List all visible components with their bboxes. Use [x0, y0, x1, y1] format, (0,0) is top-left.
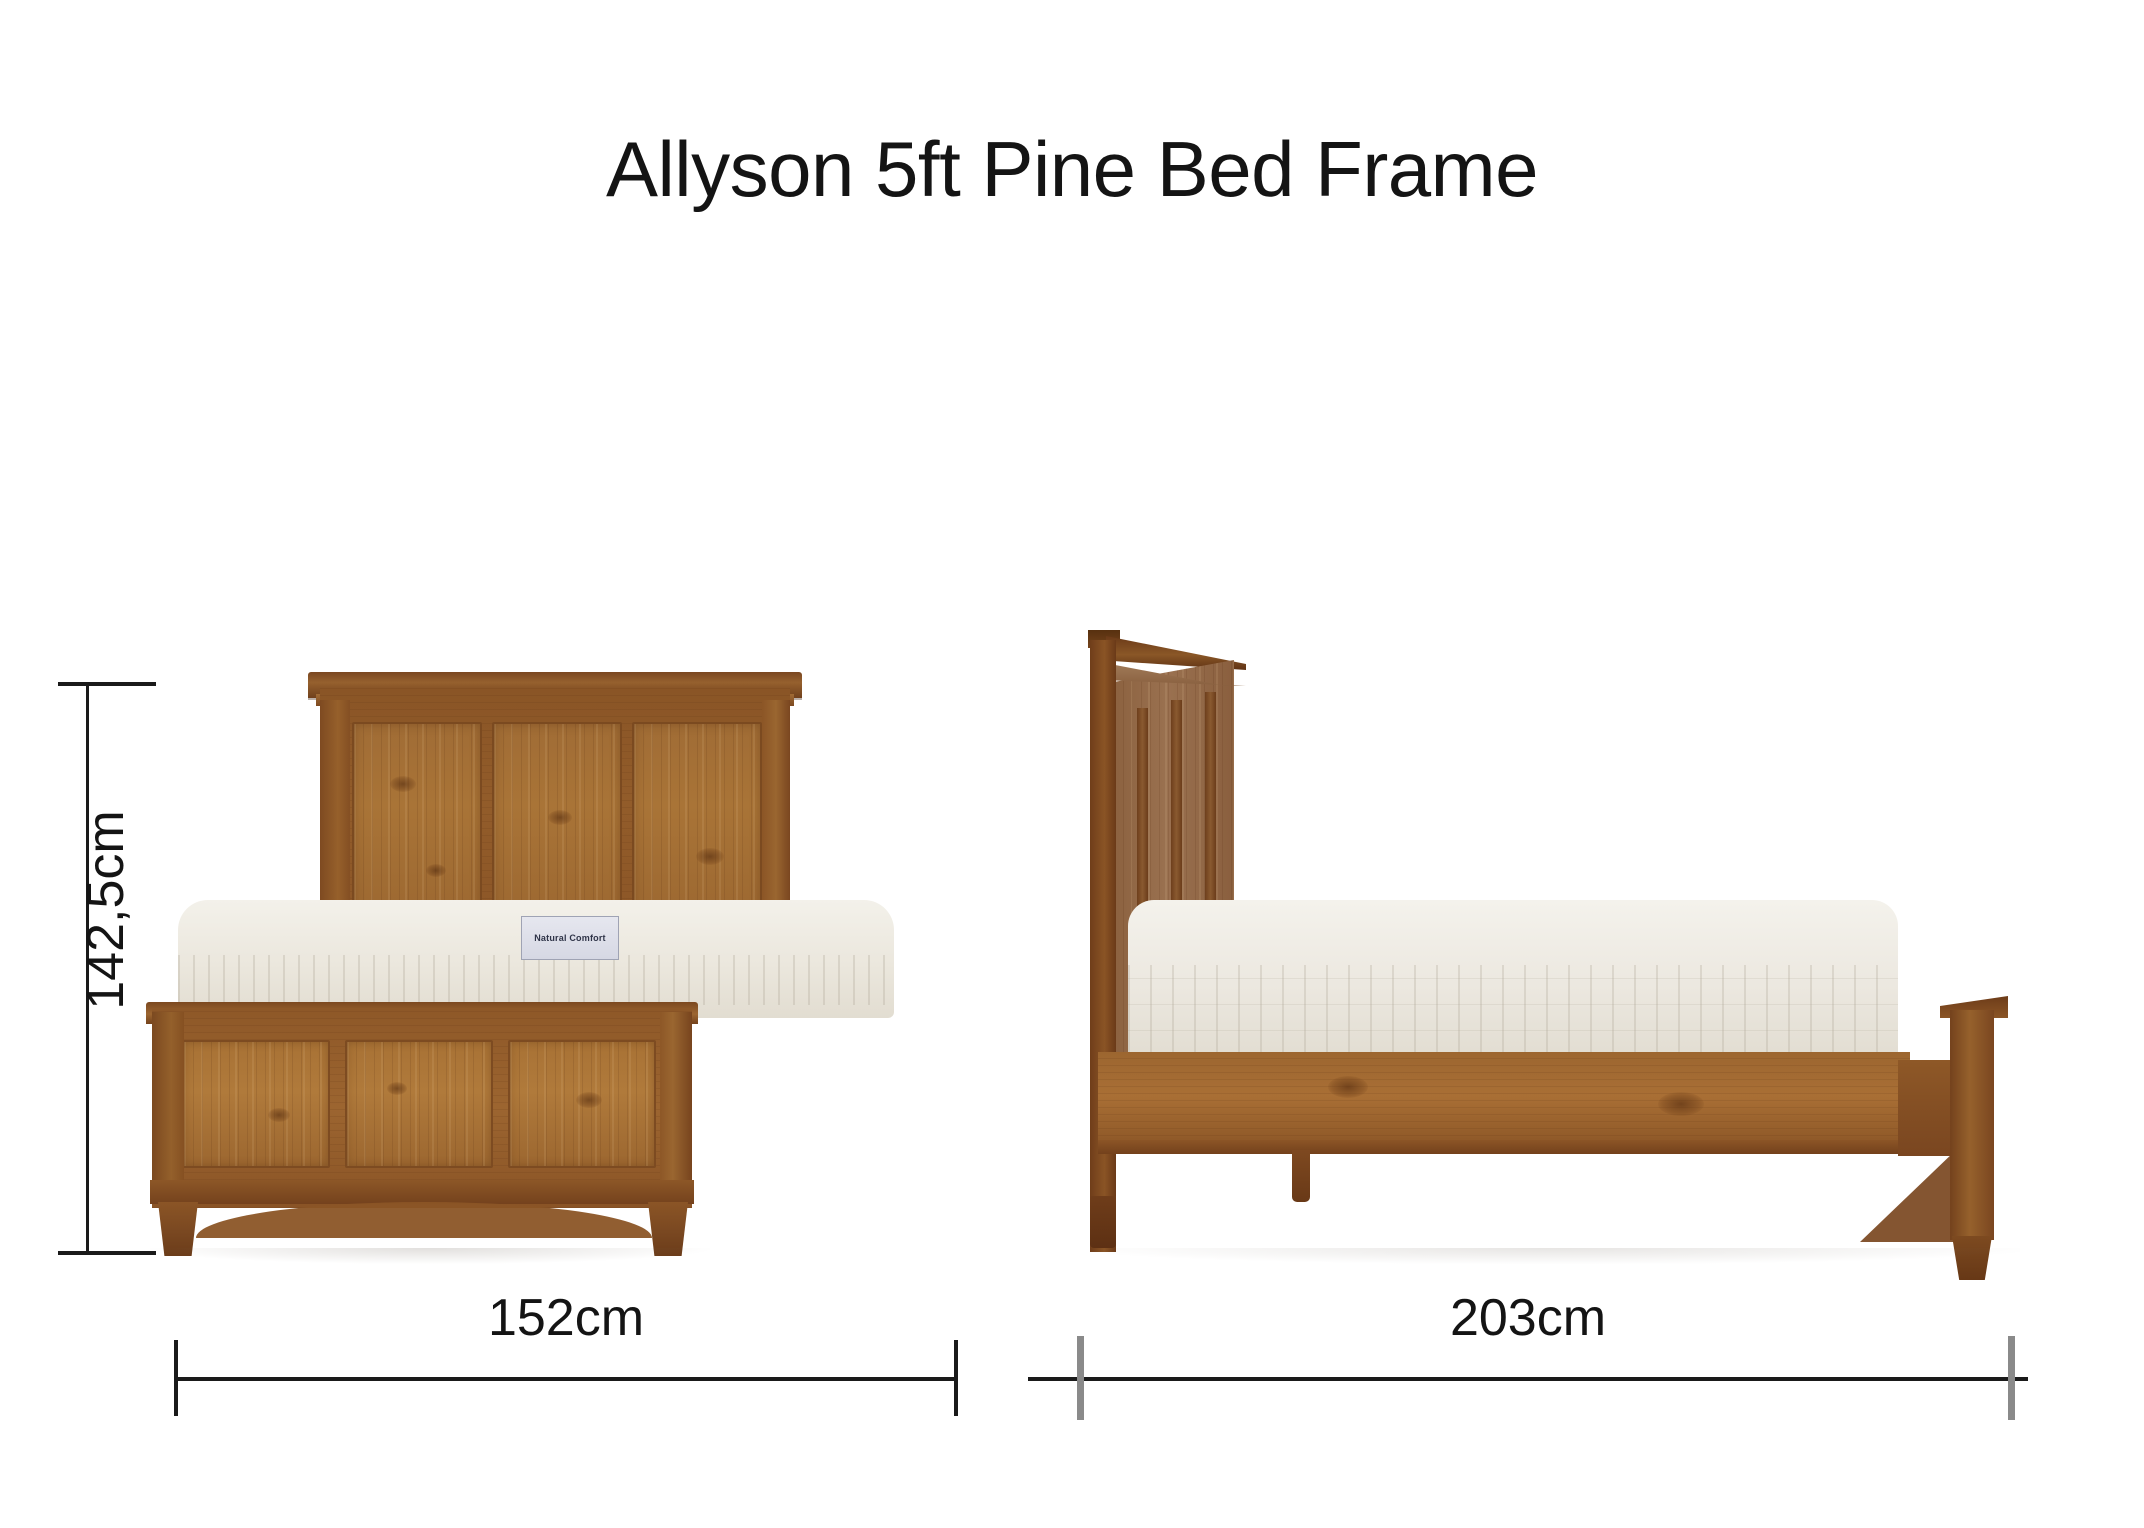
height-tick-top	[58, 682, 156, 686]
footboard-right-post	[660, 1012, 692, 1190]
wood-knot	[390, 776, 416, 792]
wood-knot	[1658, 1092, 1704, 1116]
side-footboard-post	[1950, 1010, 1994, 1240]
footboard-panel	[345, 1040, 493, 1168]
panel-beadboard-grain	[347, 1042, 491, 1166]
length-tick-left	[1077, 1336, 1084, 1420]
footboard-left-post	[152, 1012, 184, 1190]
mattress-tag-text: Natural Comfort	[534, 933, 606, 943]
side-headboard-foot	[1090, 1196, 1116, 1248]
wood-knot	[387, 1082, 407, 1095]
width-tick-right	[954, 1340, 958, 1416]
side-footboard-bracket	[1860, 1150, 1956, 1242]
wood-knot	[1328, 1076, 1368, 1098]
panel-beadboard-grain	[184, 1042, 328, 1166]
front-view-ground-shadow	[150, 1248, 710, 1264]
length-dimension-line	[1028, 1377, 2028, 1381]
wood-knot	[548, 810, 572, 825]
side-rail	[1098, 1052, 1910, 1150]
wood-knot	[576, 1092, 602, 1108]
footboard-panel	[182, 1040, 330, 1168]
width-dimension-line	[175, 1377, 957, 1381]
side-footboard-skirt	[1898, 1060, 1956, 1156]
panel-beadboard-grain	[510, 1042, 654, 1166]
side-rail-center-leg	[1292, 1150, 1310, 1202]
width-tick-left	[174, 1340, 178, 1416]
front-elevation-view: Natural Comfort	[0, 0, 1030, 1290]
side-rail-grain	[1098, 1052, 1910, 1150]
mattress-brand-tag: Natural Comfort	[521, 916, 619, 960]
wood-knot	[268, 1108, 290, 1122]
height-dimension-label: 142,5cm	[76, 780, 136, 1040]
mattress-quilting	[1128, 965, 1898, 1057]
width-dimension-label: 152cm	[175, 1288, 957, 1348]
side-view-ground-shadow	[1090, 1248, 2020, 1264]
side-headboard-post	[1090, 640, 1116, 1252]
height-tick-bottom	[58, 1251, 156, 1255]
side-rail-bevel	[1098, 1140, 1910, 1154]
mattress-quilting	[178, 955, 894, 1005]
length-tick-right	[2008, 1336, 2015, 1420]
length-dimension-label: 203cm	[1028, 1288, 2028, 1348]
wood-knot	[426, 864, 446, 877]
wood-knot	[696, 848, 724, 865]
footboard-panel	[508, 1040, 656, 1168]
footboard-bottom-rail	[150, 1180, 694, 1204]
